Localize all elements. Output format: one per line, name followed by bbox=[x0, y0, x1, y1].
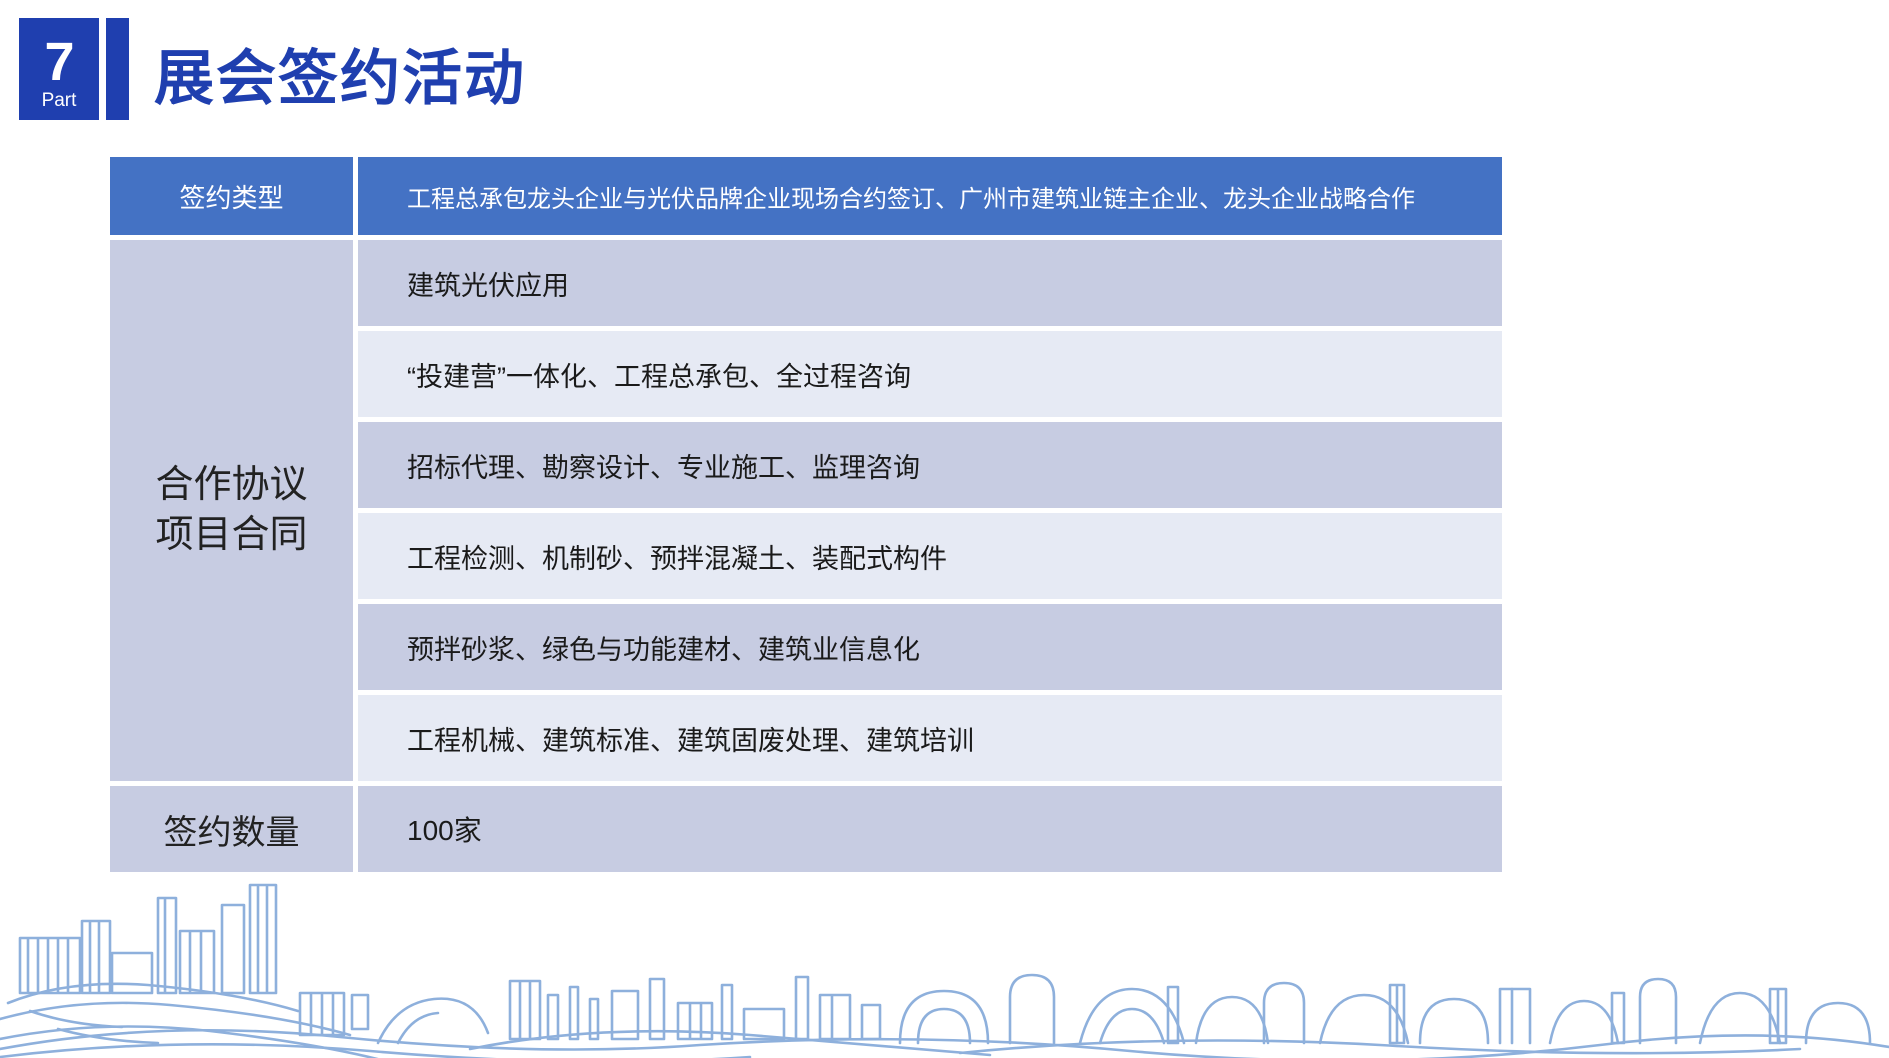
agreement-group-row: 合作协议 项目合同 建筑光伏应用 “投建营”一体化、工程总承包、全过程咨询 招标… bbox=[110, 240, 1502, 781]
list-item: 预拌砂浆、绿色与功能建材、建筑业信息化 bbox=[358, 604, 1502, 690]
page-title: 展会签约活动 bbox=[154, 30, 526, 117]
list-item: 招标代理、勘察设计、专业施工、监理咨询 bbox=[358, 422, 1502, 508]
signing-count-value: 100家 bbox=[358, 786, 1502, 872]
list-item: 工程检测、机制砂、预拌混凝土、装配式构件 bbox=[358, 513, 1502, 599]
list-item: 建筑光伏应用 bbox=[358, 240, 1502, 326]
agreement-items-list: 建筑光伏应用 “投建营”一体化、工程总承包、全过程咨询 招标代理、勘察设计、专业… bbox=[358, 240, 1502, 781]
table-header-label-cell: 签约类型 bbox=[110, 157, 353, 235]
table-header-content-cell: 工程总承包龙头企业与光伏品牌企业现场合约签订、广州市建筑业链主企业、龙头企业战略… bbox=[358, 157, 1502, 235]
list-item: “投建营”一体化、工程总承包、全过程咨询 bbox=[358, 331, 1502, 417]
part-number: 7 bbox=[44, 35, 73, 89]
list-item: 工程机械、建筑标准、建筑固废处理、建筑培训 bbox=[358, 695, 1502, 781]
signing-count-label: 签约数量 bbox=[110, 786, 353, 872]
part-word-label: Part bbox=[42, 91, 77, 110]
header-accent-bar bbox=[106, 18, 129, 120]
signing-count-row: 签约数量 100家 bbox=[110, 786, 1502, 872]
agreement-label-line2: 项目合同 bbox=[155, 514, 307, 556]
table-header-row: 签约类型 工程总承包龙头企业与光伏品牌企业现场合约签订、广州市建筑业链主企业、龙… bbox=[110, 157, 1502, 235]
part-number-badge: 7 Part bbox=[19, 18, 99, 120]
agreement-label-line1: 合作协议 bbox=[155, 464, 307, 506]
agreement-group-label: 合作协议 项目合同 bbox=[110, 240, 353, 781]
signing-activity-table: 签约类型 工程总承包龙头企业与光伏品牌企业现场合约签订、广州市建筑业链主企业、龙… bbox=[110, 157, 1502, 872]
slide-header: 7 Part 展会签约活动 bbox=[0, 0, 1889, 150]
city-skyline-decoration bbox=[0, 843, 1889, 1058]
